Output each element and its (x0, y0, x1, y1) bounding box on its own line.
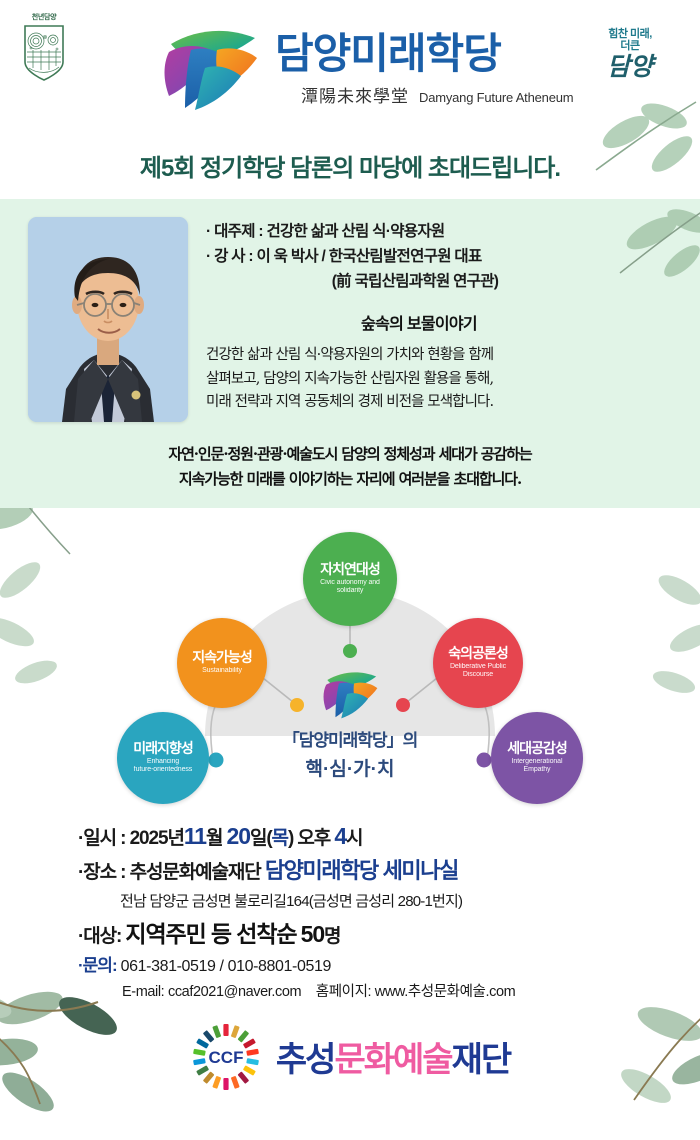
detail-email-site: E-mail: ccaf2021@naver.com 홈페이지: www.추성문… (78, 980, 700, 1005)
ccf-logo: CCF (190, 1021, 262, 1093)
event-details: ·일시 : 2025년11월 20일(목) 오후 4시 ·장소 : 추성문화예술… (0, 814, 700, 1005)
site-value[interactable]: www.추성문화예술.com (375, 984, 516, 1000)
bubble-ko-label: 숙의공론성 (448, 646, 507, 661)
date-year: 2025년 (130, 828, 184, 849)
core-values-diagram: 「담양미래학당」의 핵·심·가·치 자치연대성 Civic autonomy a… (0, 514, 700, 814)
contact-value[interactable]: 061-381-0519 / 010-8801-0519 (121, 958, 331, 975)
date-weekday: 목 (272, 828, 288, 849)
bubble-ko-label: 지속가능성 (192, 650, 251, 665)
speaker-value: 이 욱 박사 / 한국산림발전연구원 대표 (256, 248, 481, 265)
core-value-label: 「담양미래학당」의 핵·심·가·치 (0, 726, 700, 781)
desc-line-2: 살펴보고, 담양의 지속가능한 산림자원 활용을 통해, (206, 368, 672, 391)
speaker-info: · 대주제 : 건강한 삶과 산림 식·약용자원 · 강 사 : 이 욱 박사 … (206, 217, 672, 422)
foundation-name-part2: 문화예술 (334, 1041, 451, 1079)
brand-title-hanja: 潭陽未來學堂 (301, 82, 409, 107)
date-month: 11 (184, 823, 206, 849)
core-label-line1: 「담양미래학당」의 (0, 726, 700, 751)
topic-label: · 대주제 : (206, 219, 263, 244)
detail-target: ·대상: 지역주민 등 선착순 50명 (78, 916, 700, 952)
place-org: 추성문화예술재단 (130, 862, 261, 883)
detail-address: 전남 담양군 금성면 불로리길164(금성면 금성리 280-1번지) (78, 889, 700, 915)
ccf-mark-text: CCF (208, 1048, 243, 1067)
bubble-ko-label: 자치연대성 (320, 562, 379, 577)
value-bubble-intergenerational-empathy[interactable]: 세대공감성 Intergenerational Empathy (491, 712, 583, 804)
brand-title-en: Damyang Future Atheneum (419, 90, 573, 105)
foundation-name: 추성문화예술재단 (276, 1032, 510, 1081)
target-value: 지역주민 등 선착순 (125, 921, 296, 947)
county-crest: 천년담양 (18, 12, 70, 87)
foundation-name-part1: 추성 (276, 1041, 335, 1079)
damyang-bird-logo-icon (155, 22, 265, 114)
bubble-en-label-1: Sustainability (202, 667, 242, 675)
poster-header: 천년담양 (0, 0, 700, 140)
bubble-en-label-2: Discourse (463, 671, 493, 679)
date-hour-unit: 시 (346, 828, 362, 849)
bubble-ko-label: 세대공감성 (507, 741, 566, 756)
brand-text: 담양미래학당 潭陽未來學堂 Damyang Future Atheneum (275, 29, 573, 107)
speaker-panel: · 대주제 : 건강한 삶과 산림 식·약용자원 · 강 사 : 이 욱 박사 … (0, 199, 700, 508)
detail-contact: ·문의: 061-381-0519 / 010-8801-0519 (78, 952, 700, 980)
date-day-unit: 일( (250, 828, 272, 849)
brand-title-ko: 담양미래학당 (275, 33, 573, 75)
page-title: 제5회 정기학당 담론의 마당에 초대드립니다. (0, 148, 700, 183)
target-count: 50 (301, 921, 324, 947)
site-label: 홈페이지: (316, 984, 371, 1000)
bubble-en-label-2: Empathy (524, 766, 551, 774)
speaker-former-role: (前 국립산림과학원 연구관) (206, 269, 672, 294)
speaker-label: · 강 사 : (206, 244, 253, 269)
date-hour: 4 (334, 823, 346, 849)
date-label: ·일시 : (78, 828, 125, 849)
lecture-headline: 숲속의 보물이야기 (206, 310, 672, 334)
bubble-en-label-1: Intergenerational (512, 758, 563, 766)
date-ampm: 오후 (297, 828, 330, 849)
value-bubble-deliberative-discourse[interactable]: 숙의공론성 Deliberative Public Discourse (433, 618, 523, 708)
desc-line-3: 미래 전략과 지역 공동체의 경제 비전을 모색합니다. (206, 391, 672, 414)
email-value[interactable]: ccaf2021@naver.com (168, 984, 301, 1000)
core-bird-logo-icon (318, 666, 382, 722)
bubble-en-label-1: Civic autonomy and (320, 579, 380, 587)
bubble-en-label-1: Deliberative Public (450, 663, 506, 671)
contact-label: ·문의: (78, 956, 117, 975)
date-close: ) (288, 828, 293, 849)
lecture-description: 건강한 삶과 산림 식·약용자원의 가치와 현황을 함께 살펴보고, 담양의 지… (206, 344, 672, 414)
place-room: 담양미래학당 세미나실 (265, 858, 458, 883)
value-bubble-civic-autonomy[interactable]: 자치연대성 Civic autonomy and solidarity (303, 532, 397, 626)
brand-lockup: 담양미래학당 潭陽未來學堂 Damyang Future Atheneum (155, 22, 573, 114)
desc-line-1: 건강한 삶과 산림 식·약용자원의 가치와 현황을 함께 (206, 344, 672, 367)
city-brand-line1: 힘찬 미래, (584, 28, 676, 40)
target-unit: 명 (324, 926, 340, 947)
invite-line-2: 지속가능한 미래를 이야기하는 자리에 여러분을 초대합니다. (36, 467, 664, 492)
speaker-line: · 강 사 : 이 욱 박사 / 한국산림발전연구원 대표 (206, 244, 672, 269)
crest-label: 천년담양 (18, 12, 70, 22)
foundation-name-part3: 재단 (452, 1041, 511, 1079)
value-bubble-sustainability[interactable]: 지속가능성 Sustainability (177, 618, 267, 708)
topic-line: · 대주제 : 건강한 삶과 산림 식·약용자원 (206, 219, 672, 244)
poster-footer: CCF 추성문화예술재단 (0, 1021, 700, 1093)
detail-place: ·장소 : 추성문화예술재단 담양미래학당 세미나실 (78, 854, 700, 889)
value-bubble-future-orientedness[interactable]: 미래지향성 Enhancing future-orientedness (117, 712, 209, 804)
email-label: E-mail: (122, 984, 164, 1000)
title-bar: 제5회 정기학당 담론의 마당에 초대드립니다. (0, 140, 700, 183)
bubble-ko-label: 미래지향성 (133, 741, 192, 756)
bubble-en-label-1: Enhancing (147, 758, 179, 766)
bubble-en-label-2: solidarity (337, 587, 364, 595)
city-brand-line3: 담양 (584, 54, 676, 80)
core-label-line2: 핵·심·가·치 (0, 754, 700, 781)
date-month-unit: 월 (206, 828, 222, 849)
invitation-text: 자연·인문·정원·관광·예술도시 담양의 정체성과 세대가 공감하는 지속가능한… (0, 442, 700, 492)
date-day: 20 (227, 823, 250, 849)
topic-value: 건강한 삶과 산림 식·약용자원 (266, 223, 444, 240)
speaker-portrait (28, 217, 188, 422)
invite-line-1: 자연·인문·정원·관광·예술도시 담양의 정체성과 세대가 공감하는 (36, 442, 664, 467)
damyang-county-emblem-icon (23, 24, 65, 82)
ccf-sdg-wheel-logo-icon: CCF (190, 1021, 262, 1093)
bubble-en-label-2: future-orientedness (134, 766, 192, 774)
city-brand-logo: 힘찬 미래, 더큰 담양 (584, 28, 676, 81)
detail-date: ·일시 : 2025년11월 20일(목) 오후 4시 (78, 818, 700, 854)
place-label: ·장소 : (78, 862, 125, 883)
target-label: ·대상: (78, 926, 121, 947)
event-poster: 천년담양 (0, 0, 700, 1140)
